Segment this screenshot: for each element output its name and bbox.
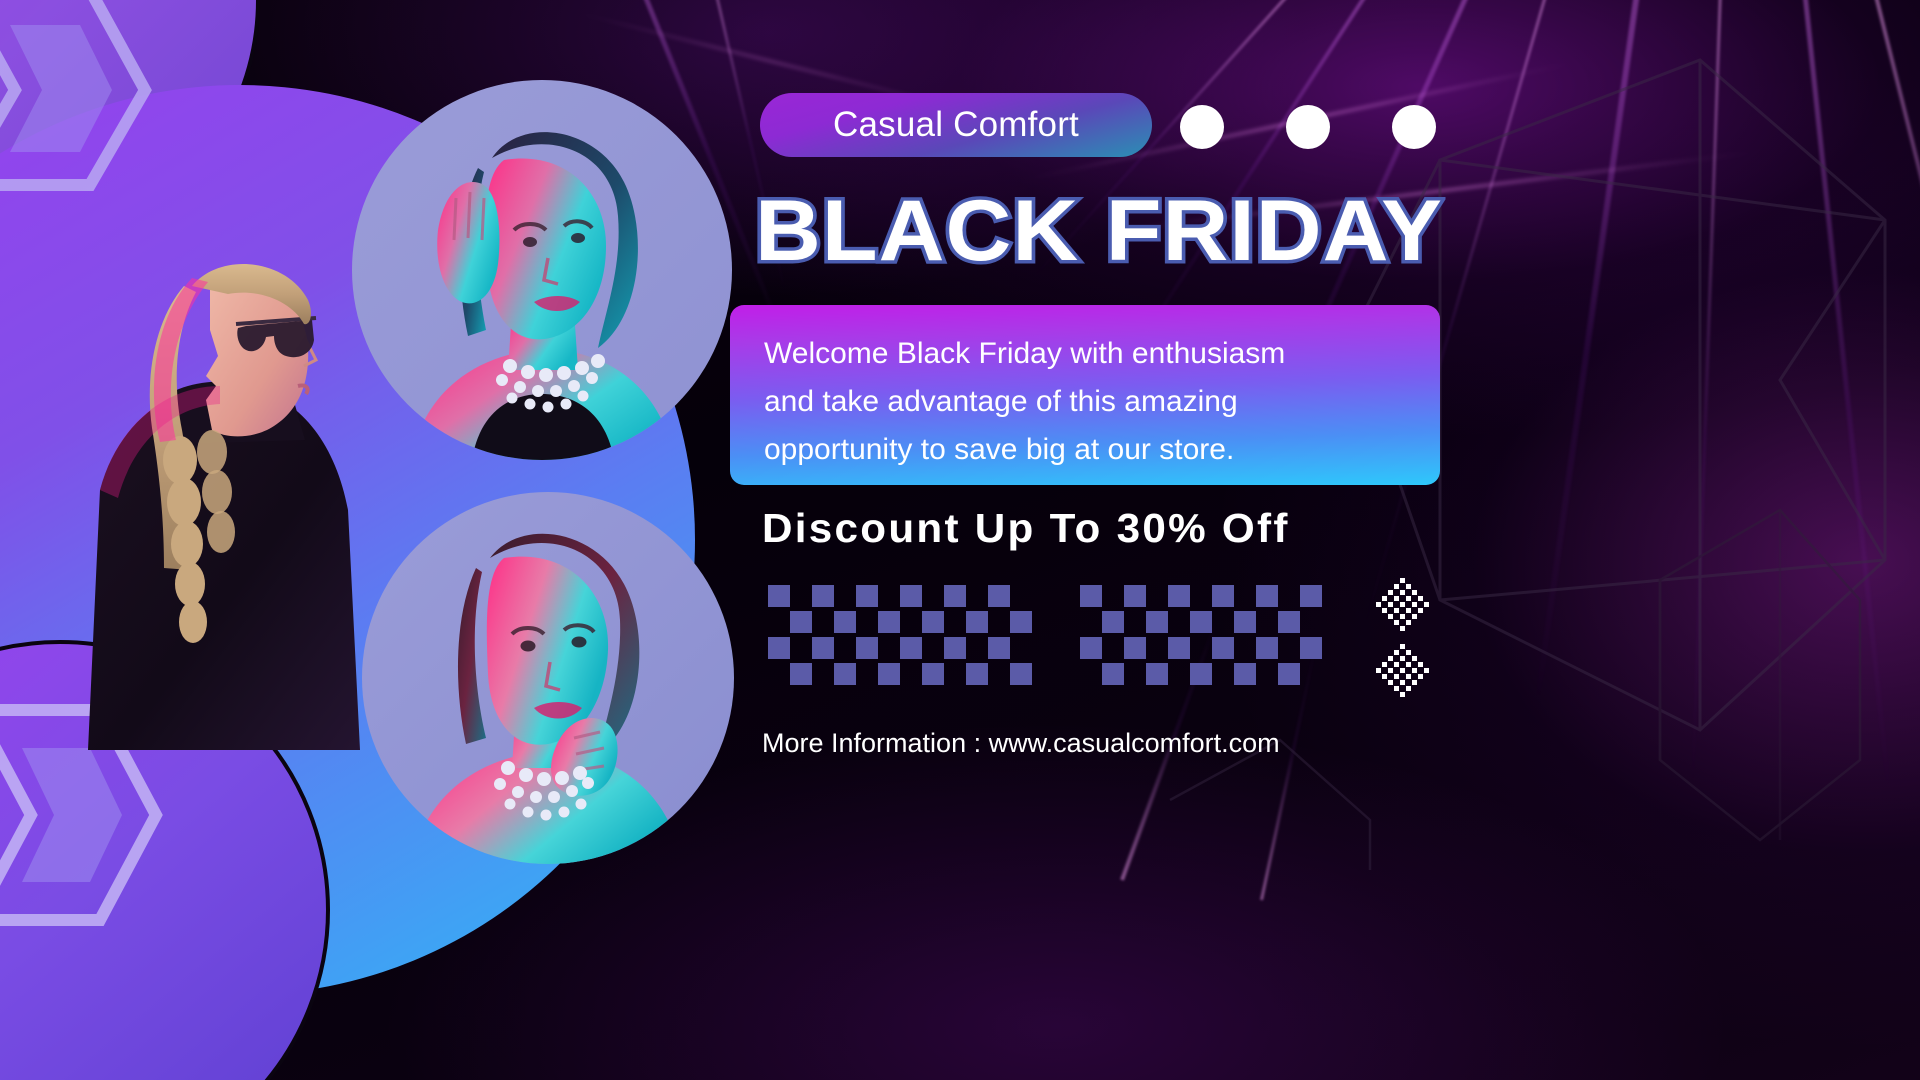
chevron-decor-top [0,0,200,200]
discount-headline: Discount Up To 30% Off [762,505,1290,552]
description-line: Welcome Black Friday with enthusiasm [764,330,1384,378]
description-text: Welcome Black Friday with enthusiasm and… [764,330,1384,474]
decor-dot [1286,105,1330,149]
brand-badge[interactable]: Casual Comfort [760,93,1152,157]
decor-dot [1180,105,1224,149]
checkerboard-decor [768,585,1328,685]
model-portrait-top [352,80,732,460]
checkerboard-pattern-left [768,585,1038,685]
brand-badge-label: Casual Comfort [833,105,1079,145]
description-line: opportunity to save big at our store. [764,426,1384,474]
more-information-text[interactable]: More Information : www.casualcomfort.com [762,728,1280,759]
description-line: and take advantage of this amazing [764,378,1384,426]
diamond-dot-pattern [1366,578,1442,704]
checkerboard-pattern-right [1080,585,1328,685]
black-friday-banner: Casual Comfort BLACK FRIDAY Welcome Blac… [0,0,1920,1080]
page-title: BLACK FRIDAY [755,186,1497,276]
decor-dot [1392,105,1436,149]
model-portrait-bottom [362,492,734,864]
decor-dots-group [1180,105,1436,149]
